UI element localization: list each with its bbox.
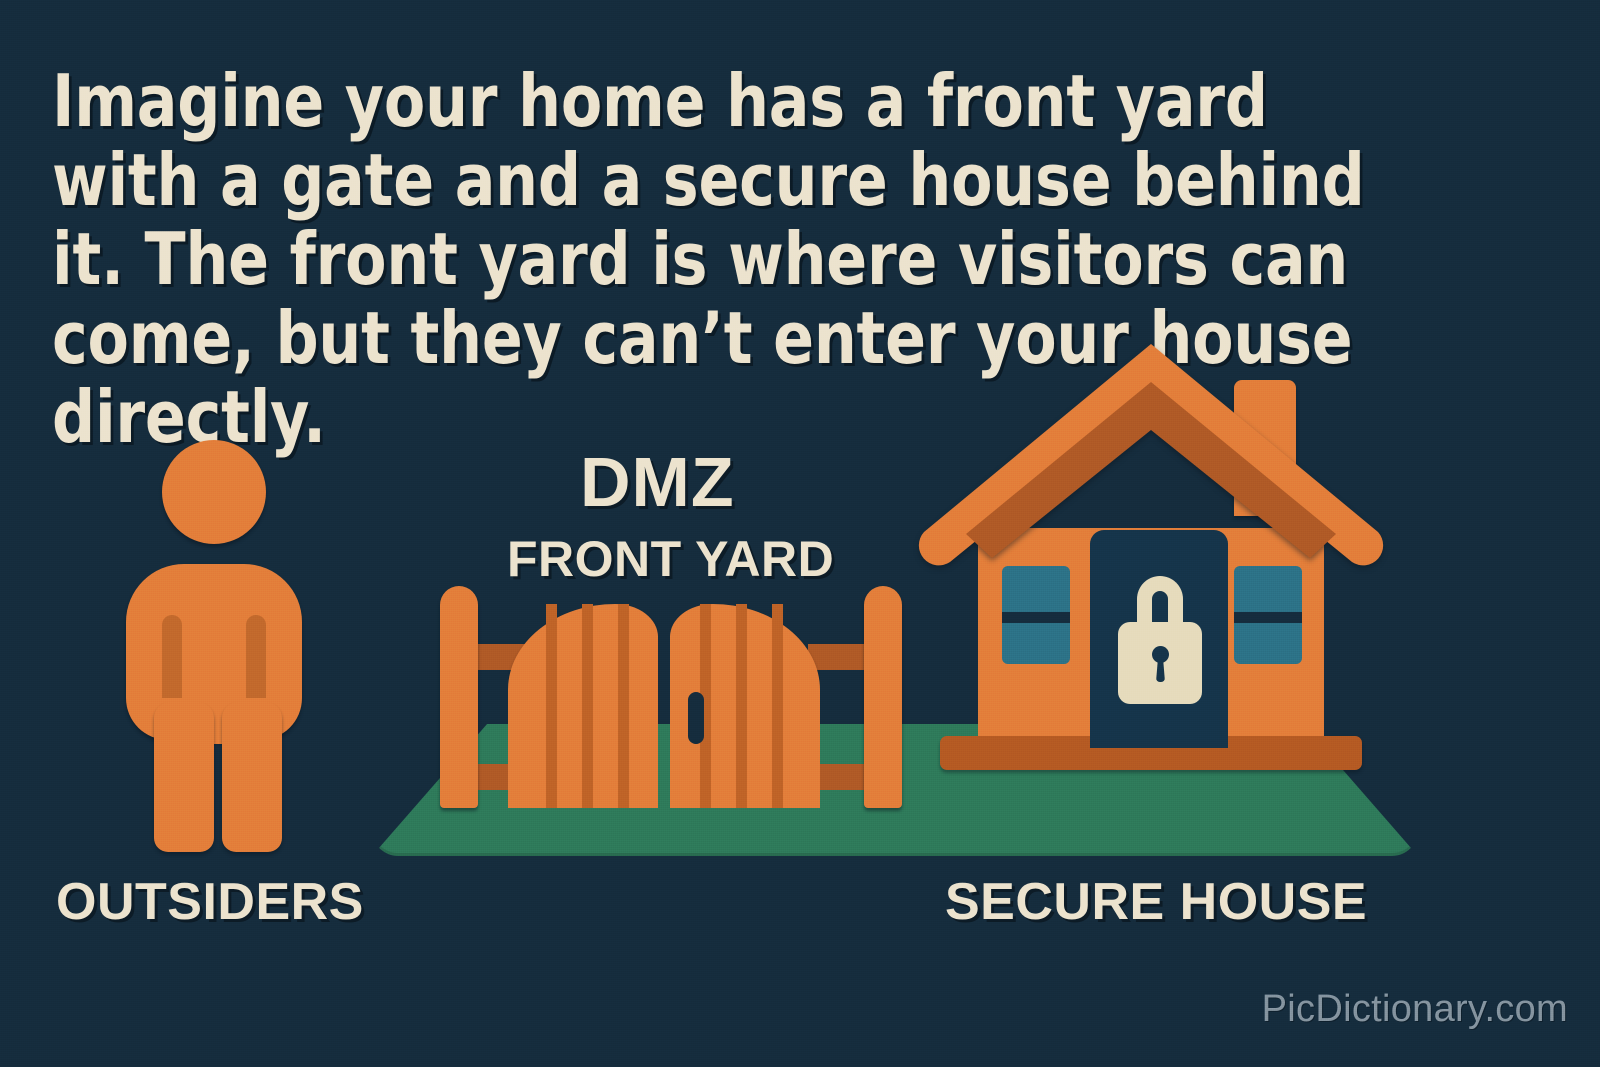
- gate-latch-keyhole-icon: [688, 692, 704, 744]
- outsiders-label: OUTSIDERS: [56, 872, 364, 932]
- gate-plank-seam: [772, 604, 783, 808]
- house-window-left: [1002, 566, 1070, 664]
- gate-leaf-left: [508, 604, 658, 808]
- gate-plank-seam: [582, 604, 593, 808]
- gate-leaf-right: [670, 604, 820, 808]
- gate-plank-seam: [736, 604, 747, 808]
- person-head: [162, 440, 266, 544]
- person-pictogram-icon: [118, 440, 308, 852]
- watermark: PicDictionary.com: [1262, 988, 1568, 1031]
- front-yard-label: FRONT YARD: [507, 530, 834, 588]
- person-left-leg: [154, 702, 214, 852]
- locked-house-icon: [916, 338, 1386, 788]
- gate-plank-seam: [618, 604, 629, 808]
- gate-post-left: [440, 586, 478, 808]
- window-mullion: [1002, 612, 1070, 623]
- house-window-right: [1234, 566, 1302, 664]
- house-door: [1090, 530, 1228, 748]
- gate-plank-seam: [546, 604, 557, 808]
- dmz-label: DMZ: [580, 442, 735, 522]
- garden-gate-icon: [424, 586, 918, 822]
- window-mullion: [1234, 612, 1302, 623]
- person-right-leg: [222, 702, 282, 852]
- gate-post-right: [864, 586, 902, 808]
- infographic-poster: Imagine your home has a front yard with …: [0, 0, 1600, 1067]
- secure-house-label: SECURE HOUSE: [945, 872, 1367, 932]
